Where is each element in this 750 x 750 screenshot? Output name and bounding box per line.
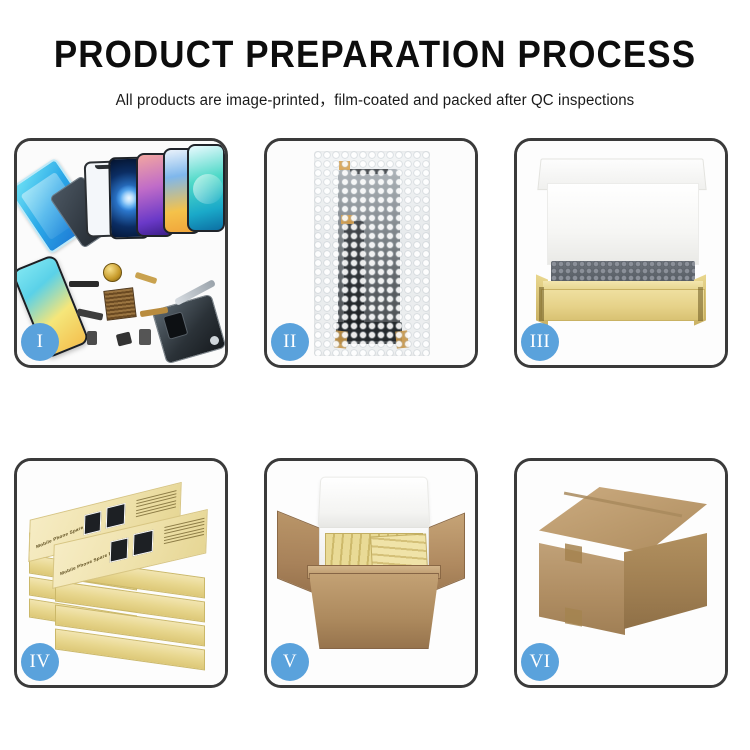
box-corner-right: [698, 287, 703, 321]
carton-body-icon: [309, 573, 439, 649]
page-header: PRODUCT PREPARATION PROCESS All products…: [0, 0, 750, 110]
screw-icon: [210, 336, 219, 345]
step-panel-4[interactable]: Mobile Phone Spare Parts Mobile Phone Sp…: [14, 458, 228, 688]
process-steps-grid: I II: [14, 138, 738, 688]
box-photo-2: [133, 530, 154, 557]
small-part-3-icon: [139, 329, 151, 345]
logic-board-icon: [103, 287, 136, 320]
carton-tape-1: [565, 543, 582, 563]
box-spec-lines: [164, 518, 205, 551]
bubble-bag: [314, 151, 430, 356]
box-stack: Mobile Phone Spare Parts Mobile Phone Sp…: [23, 479, 223, 675]
small-part-2-icon: [116, 331, 132, 346]
phone-screen-green-icon: [187, 144, 225, 232]
carton-front-face: [539, 543, 625, 635]
small-part-1-icon: [87, 331, 97, 345]
box-photo-1: [84, 511, 102, 535]
box-corner-left: [539, 287, 544, 321]
flex-cable-4-icon: [135, 272, 158, 285]
step-panel-6[interactable]: VI: [514, 458, 728, 688]
box-photo-1: [110, 537, 129, 562]
box-photo-2: [106, 503, 126, 529]
carton-tape-2: [565, 607, 582, 626]
step-badge-1: I: [21, 323, 59, 361]
step-badge-6: VI: [521, 643, 559, 681]
step-panel-5[interactable]: V: [264, 458, 478, 688]
page-subtitle: All products are image-printed，film-coat…: [11, 88, 739, 110]
step-badge-3: III: [521, 323, 559, 361]
step-panel-3[interactable]: III: [514, 138, 728, 368]
page-title: PRODUCT PREPARATION PROCESS: [30, 36, 720, 76]
step-badge-2: II: [271, 323, 309, 361]
flex-cable-3-icon: [69, 281, 99, 287]
step-badge-5: V: [271, 643, 309, 681]
yellow-box-front-icon: [541, 289, 705, 321]
step-panel-1[interactable]: I: [14, 138, 228, 368]
foam-sheet-icon: [547, 183, 699, 265]
step-panel-2[interactable]: II: [264, 138, 478, 368]
step-badge-4: IV: [21, 643, 59, 681]
speaker-component-icon: [103, 263, 122, 282]
phone-back-housing-icon: [151, 294, 225, 365]
foam-lid-icon: [318, 477, 431, 529]
bubble-texture: [314, 151, 430, 356]
